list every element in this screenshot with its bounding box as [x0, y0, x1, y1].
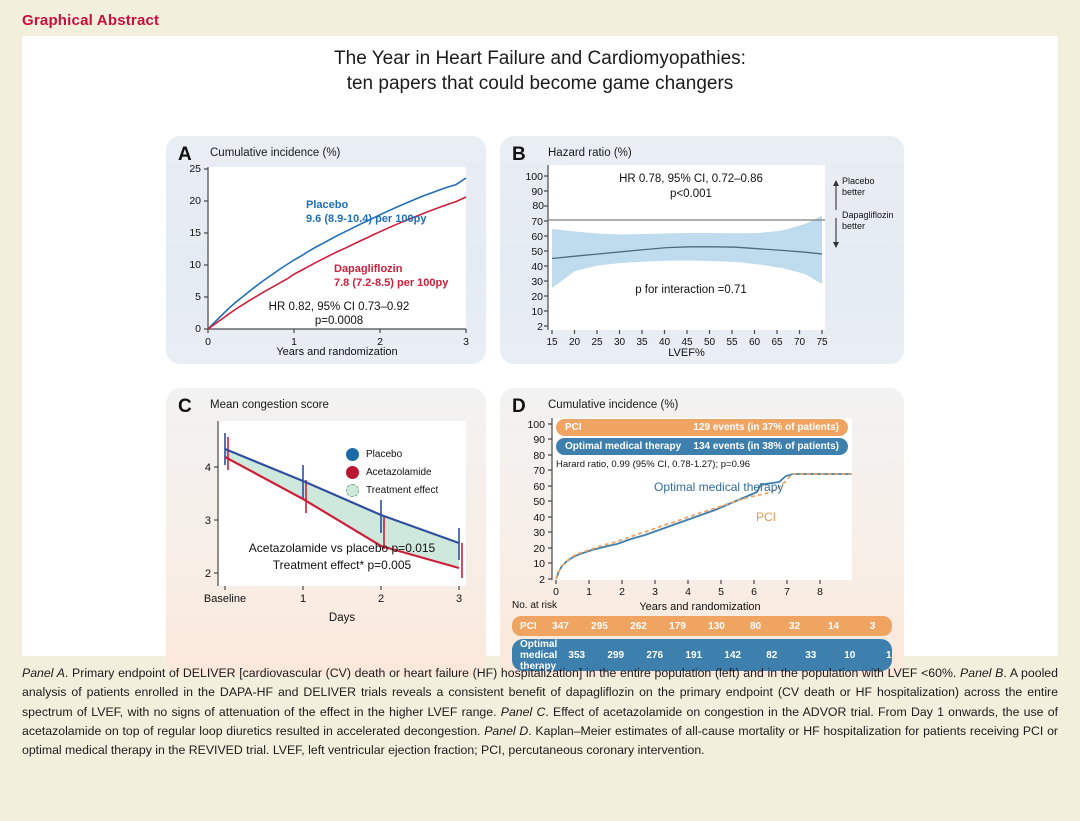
- svg-text:50: 50: [531, 246, 543, 258]
- risk-cell: 191: [674, 650, 713, 661]
- svg-text:10: 10: [189, 259, 201, 271]
- risk-cell: 82: [752, 650, 791, 661]
- panel-b-xlabel: LVEF%: [548, 347, 825, 359]
- panel-c-stat-line1: Acetazolamide vs placebo p=0.015: [249, 541, 435, 555]
- risk-cell: 33: [791, 650, 830, 661]
- risk-cell: 1: [869, 650, 904, 661]
- caption-em-panel-a: Panel A: [22, 666, 65, 680]
- svg-text:90: 90: [533, 434, 545, 446]
- svg-text:2: 2: [619, 586, 625, 598]
- panel-a-plot: 0 5 10 15 20 25 0 1 2 3: [166, 136, 486, 364]
- abstract-title: The Year in Heart Failure and Cardiomyop…: [22, 46, 1058, 96]
- risk-cell: 142: [713, 650, 752, 661]
- risk-row-pci-values: 347 295 262 179 130 80 32 14 3: [541, 621, 892, 632]
- panel-c-plot: 4 3 2: [166, 388, 486, 676]
- panel-b-p-line: p<0.001: [670, 188, 712, 200]
- risk-cell: 10: [830, 650, 869, 661]
- filled-circle-blue-icon: [346, 448, 359, 461]
- svg-text:3: 3: [456, 593, 462, 605]
- panel-a-dapa-rate: 7.8 (7.2-8.5) per 100py: [334, 277, 448, 289]
- svg-text:2: 2: [539, 574, 545, 586]
- panel-d-legend-omt-name: Optimal medical therapy: [565, 441, 681, 452]
- risk-cell: 353: [557, 650, 596, 661]
- svg-text:40: 40: [531, 261, 543, 273]
- panel-d-legend-omt: Optimal medical therapy 134 events (in 3…: [556, 438, 848, 455]
- panel-d: D Cumulative incidence (%) 1009080 70605…: [500, 388, 904, 676]
- figure-caption: Panel A. Primary endpoint of DELIVER [ca…: [22, 664, 1058, 760]
- risk-row-omt-label-line1: Optimal: [520, 639, 557, 650]
- panel-c-stat-line2: Treatment effect* p=0.005: [273, 558, 411, 572]
- risk-cell: 80: [736, 621, 775, 632]
- panel-b-dapa-better-label: Dapagliflozin better: [842, 210, 894, 232]
- risk-cell: 14: [814, 621, 853, 632]
- legend-item-acetazolamide: Acetazolamide: [346, 466, 438, 479]
- svg-text:30: 30: [533, 527, 545, 539]
- risk-cell: 3: [853, 621, 892, 632]
- graphical-abstract-page: Graphical Abstract The Year in Heart Fai…: [0, 0, 1080, 821]
- svg-text:90: 90: [531, 186, 543, 198]
- risk-cell: 130: [697, 621, 736, 632]
- svg-text:0: 0: [195, 323, 201, 335]
- svg-text:1: 1: [586, 586, 592, 598]
- panel-b: B Hazard ratio (%) 100 90 74 70 60 50 40…: [500, 136, 904, 364]
- panel-a-p-line: p=0.0008: [315, 315, 363, 327]
- panel-b-down-label-1: Dapagliflozin: [842, 210, 894, 220]
- panel-c-legend: Placebo Acetazolamide Treatment effect: [346, 448, 438, 502]
- legend-item-placebo: Placebo: [346, 448, 438, 461]
- panel-a-placebo-annotation: Placebo 9.6 (8.9-10.4) per 100py: [306, 198, 426, 226]
- svg-text:20: 20: [533, 543, 545, 555]
- svg-text:3: 3: [205, 515, 211, 527]
- risk-cell: 262: [619, 621, 658, 632]
- risk-cell: 276: [635, 650, 674, 661]
- panel-a-placebo-rate: 9.6 (8.9-10.4) per 100py: [306, 213, 426, 225]
- panel-b-plot: 100 90 74 70 60 50 40 30 20 10 2: [500, 136, 904, 364]
- svg-text:Years and randomization: Years and randomization: [639, 601, 760, 613]
- panel-d-legend-omt-events: 134 events (in 38% of patients): [693, 441, 839, 452]
- panel-c-stats-annotation: Acetazolamide vs placebo p=0.015 Treatme…: [222, 540, 462, 574]
- panel-a-hr-line: HR 0.82, 95% CI 0.73–0.92: [269, 301, 410, 313]
- panel-a-placebo-name: Placebo: [306, 199, 348, 211]
- panel-b-up-label-2: better: [842, 187, 865, 197]
- panel-d-legend-pci-name: PCI: [565, 422, 582, 433]
- svg-text:60: 60: [533, 481, 545, 493]
- page-title: Graphical Abstract: [22, 12, 159, 29]
- risk-cell: 32: [775, 621, 814, 632]
- panel-a: A Cumulative incidence (%) 0 5 10 15 20: [166, 136, 486, 364]
- svg-text:70: 70: [533, 465, 545, 477]
- svg-text:4: 4: [205, 462, 211, 474]
- svg-text:80: 80: [533, 450, 545, 462]
- svg-text:3: 3: [652, 586, 658, 598]
- panel-c: C Mean congestion score 4 3 2: [166, 388, 486, 676]
- svg-text:8: 8: [817, 586, 823, 598]
- legend-label-placebo: Placebo: [366, 449, 402, 460]
- caption-em-panel-b: Panel B: [960, 666, 1003, 680]
- legend-label-acetazolamide: Acetazolamide: [366, 467, 432, 478]
- svg-text:0: 0: [553, 586, 559, 598]
- svg-text:4: 4: [685, 586, 691, 598]
- panel-b-placebo-better-label: Placebo better: [842, 176, 875, 198]
- svg-text:100: 100: [527, 419, 545, 431]
- caption-em-panel-d: Panel D: [484, 724, 528, 738]
- risk-cell: 179: [658, 621, 697, 632]
- risk-row-omt-values: 353 299 276 191 142 82 33 10 1: [557, 650, 904, 661]
- svg-text:7: 7: [784, 586, 790, 598]
- svg-text:10: 10: [531, 306, 543, 318]
- svg-text:10: 10: [533, 558, 545, 570]
- panel-a-dapa-name: Dapagliflozin: [334, 263, 402, 275]
- panel-a-hr-annotation: HR 0.82, 95% CI 0.73–0.92 p=0.0008: [244, 300, 434, 328]
- svg-text:1: 1: [300, 593, 306, 605]
- abstract-card: The Year in Heart Failure and Cardiomyop…: [22, 36, 1058, 656]
- panel-a-xlabel: Years and randomization: [208, 346, 466, 358]
- panel-d-curve-label-pci: PCI: [756, 510, 776, 524]
- svg-text:30: 30: [531, 276, 543, 288]
- svg-text:20: 20: [531, 291, 543, 303]
- panel-d-no-at-risk-label: No. at risk: [512, 600, 557, 611]
- risk-cell: 295: [580, 621, 619, 632]
- risk-row-pci-label: PCI: [512, 621, 541, 632]
- panel-a-dapa-annotation: Dapagliflozin 7.8 (7.2-8.5) per 100py: [334, 262, 448, 290]
- svg-text:15: 15: [189, 227, 201, 239]
- panel-b-hr-annotation: HR 0.78, 95% CI, 0.72–0.86 p<0.001: [596, 172, 786, 202]
- panel-d-curve-label-omt: Optimal medical therapy: [654, 480, 783, 494]
- svg-text:40: 40: [533, 512, 545, 524]
- panel-b-ytick-80: 80: [524, 200, 544, 213]
- svg-text:60: 60: [531, 231, 543, 243]
- svg-text:70: 70: [531, 216, 543, 228]
- svg-text:Days: Days: [329, 612, 355, 624]
- caption-em-panel-c: Panel C: [501, 705, 546, 719]
- svg-text:5: 5: [195, 291, 201, 303]
- svg-text:100: 100: [525, 171, 543, 183]
- panel-d-legend-pci: PCI 129 events (in 37% of patients): [556, 419, 848, 436]
- panel-d-hazard-text: Harard ratio, 0.99 (95% CI, 0.78-1.27); …: [556, 459, 750, 470]
- svg-text:20: 20: [189, 195, 201, 207]
- svg-text:2: 2: [205, 568, 211, 580]
- legend-label-treatment-effect: Treatment effect: [366, 485, 438, 496]
- svg-text:5: 5: [718, 586, 724, 598]
- risk-cell: 347: [541, 621, 580, 632]
- panel-b-hr-line: HR 0.78, 95% CI, 0.72–0.86: [619, 173, 763, 185]
- svg-text:2: 2: [378, 593, 384, 605]
- svg-text:50: 50: [533, 496, 545, 508]
- filled-circle-red-icon: [346, 466, 359, 479]
- panel-b-up-label-1: Placebo: [842, 176, 875, 186]
- risk-cell: 299: [596, 650, 635, 661]
- svg-text:6: 6: [751, 586, 757, 598]
- abstract-title-line2: ten papers that could become game change…: [22, 71, 1058, 96]
- legend-item-treatment-effect: Treatment effect: [346, 484, 438, 497]
- svg-text:2: 2: [537, 321, 543, 333]
- caption-text-1: . Primary endpoint of DELIVER [cardiovas…: [65, 666, 960, 680]
- svg-text:25: 25: [189, 163, 201, 175]
- panel-d-legend-pci-events: 129 events (in 37% of patients): [693, 422, 839, 433]
- abstract-title-line1: The Year in Heart Failure and Cardiomyop…: [334, 48, 746, 69]
- svg-text:Baseline: Baseline: [204, 593, 246, 605]
- panel-b-down-label-2: better: [842, 221, 865, 231]
- panel-b-pinteraction: p for interaction =0.71: [596, 284, 786, 296]
- risk-row-pci: PCI 347 295 262 179 130 80 32 14 3: [512, 616, 892, 636]
- dashed-circle-green-icon: [346, 484, 359, 497]
